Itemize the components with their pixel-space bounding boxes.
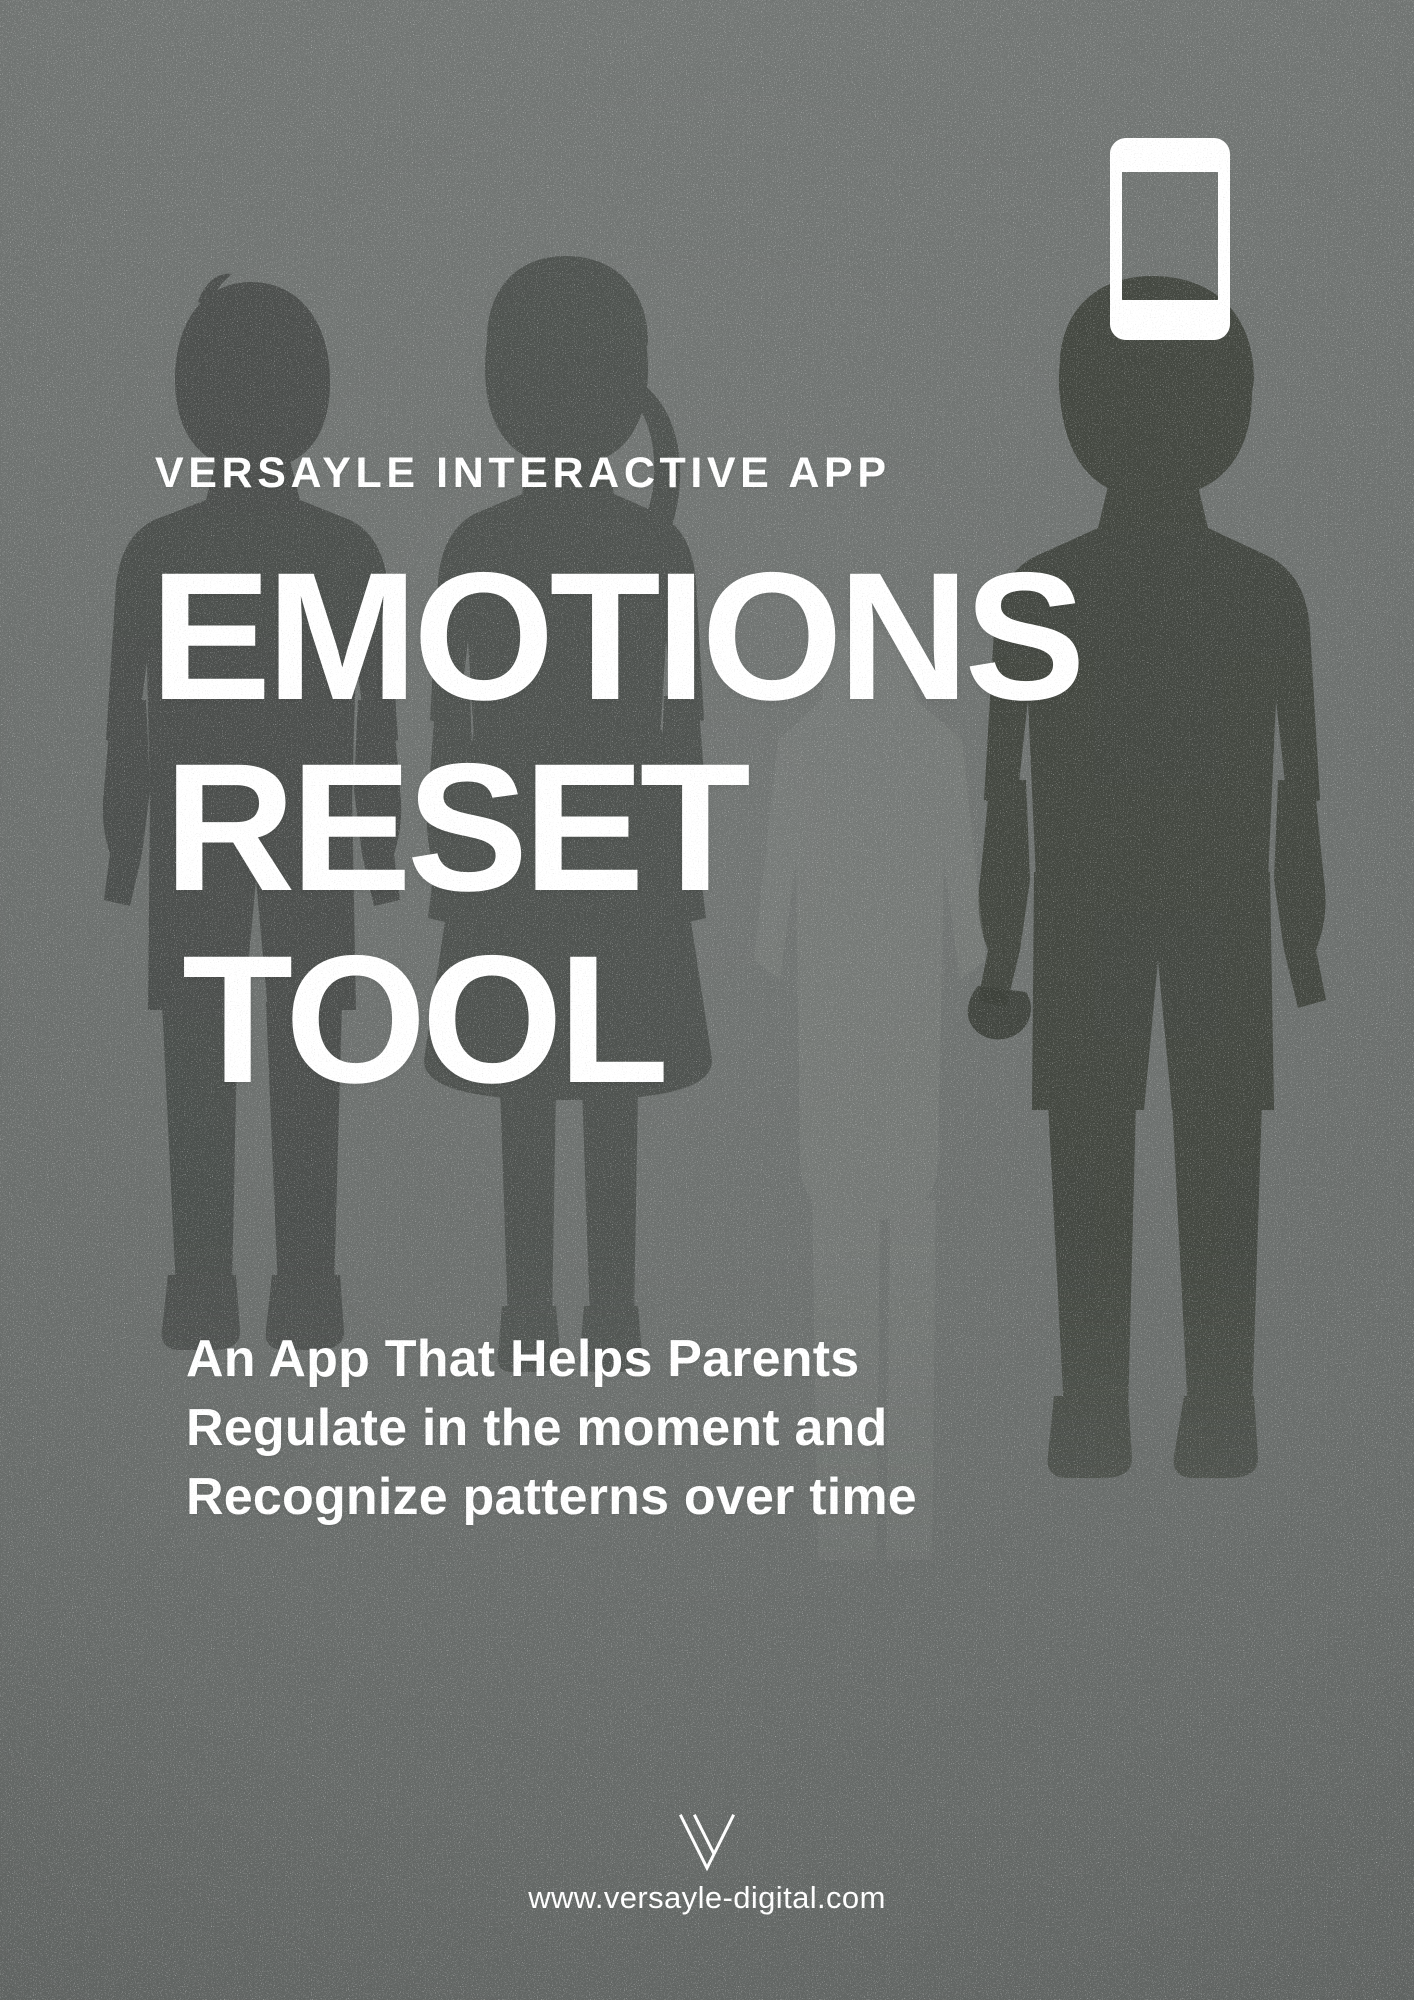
poster-canvas: VERSAYLE INTERACTIVE APP EMOTIONS RESET … (0, 0, 1414, 2000)
poster-content: VERSAYLE INTERACTIVE APP EMOTIONS RESET … (0, 0, 1414, 2000)
versayle-v-logo-icon (675, 1810, 739, 1874)
subtitle-line-3: Recognize patterns over time (186, 1463, 1246, 1532)
mobile-phone-icon (1110, 138, 1230, 340)
page-title: EMOTIONS RESET TOOL (150, 552, 1250, 1104)
headline-line-3: TOOL (182, 935, 1250, 1104)
website-url[interactable]: www.versayle-digital.com (0, 1882, 1414, 1913)
headline-line-1: EMOTIONS (150, 552, 1250, 721)
headline-line-2: RESET (164, 743, 1250, 912)
subtitle-block: An App That Helps Parents Regulate in th… (186, 1325, 1246, 1532)
subtitle-line-2: Regulate in the moment and (186, 1394, 1246, 1463)
poster-footer: www.versayle-digital.com (0, 1810, 1414, 1913)
subtitle-line-1: An App That Helps Parents (186, 1325, 1246, 1394)
eyebrow-text: VERSAYLE INTERACTIVE APP (155, 452, 891, 495)
